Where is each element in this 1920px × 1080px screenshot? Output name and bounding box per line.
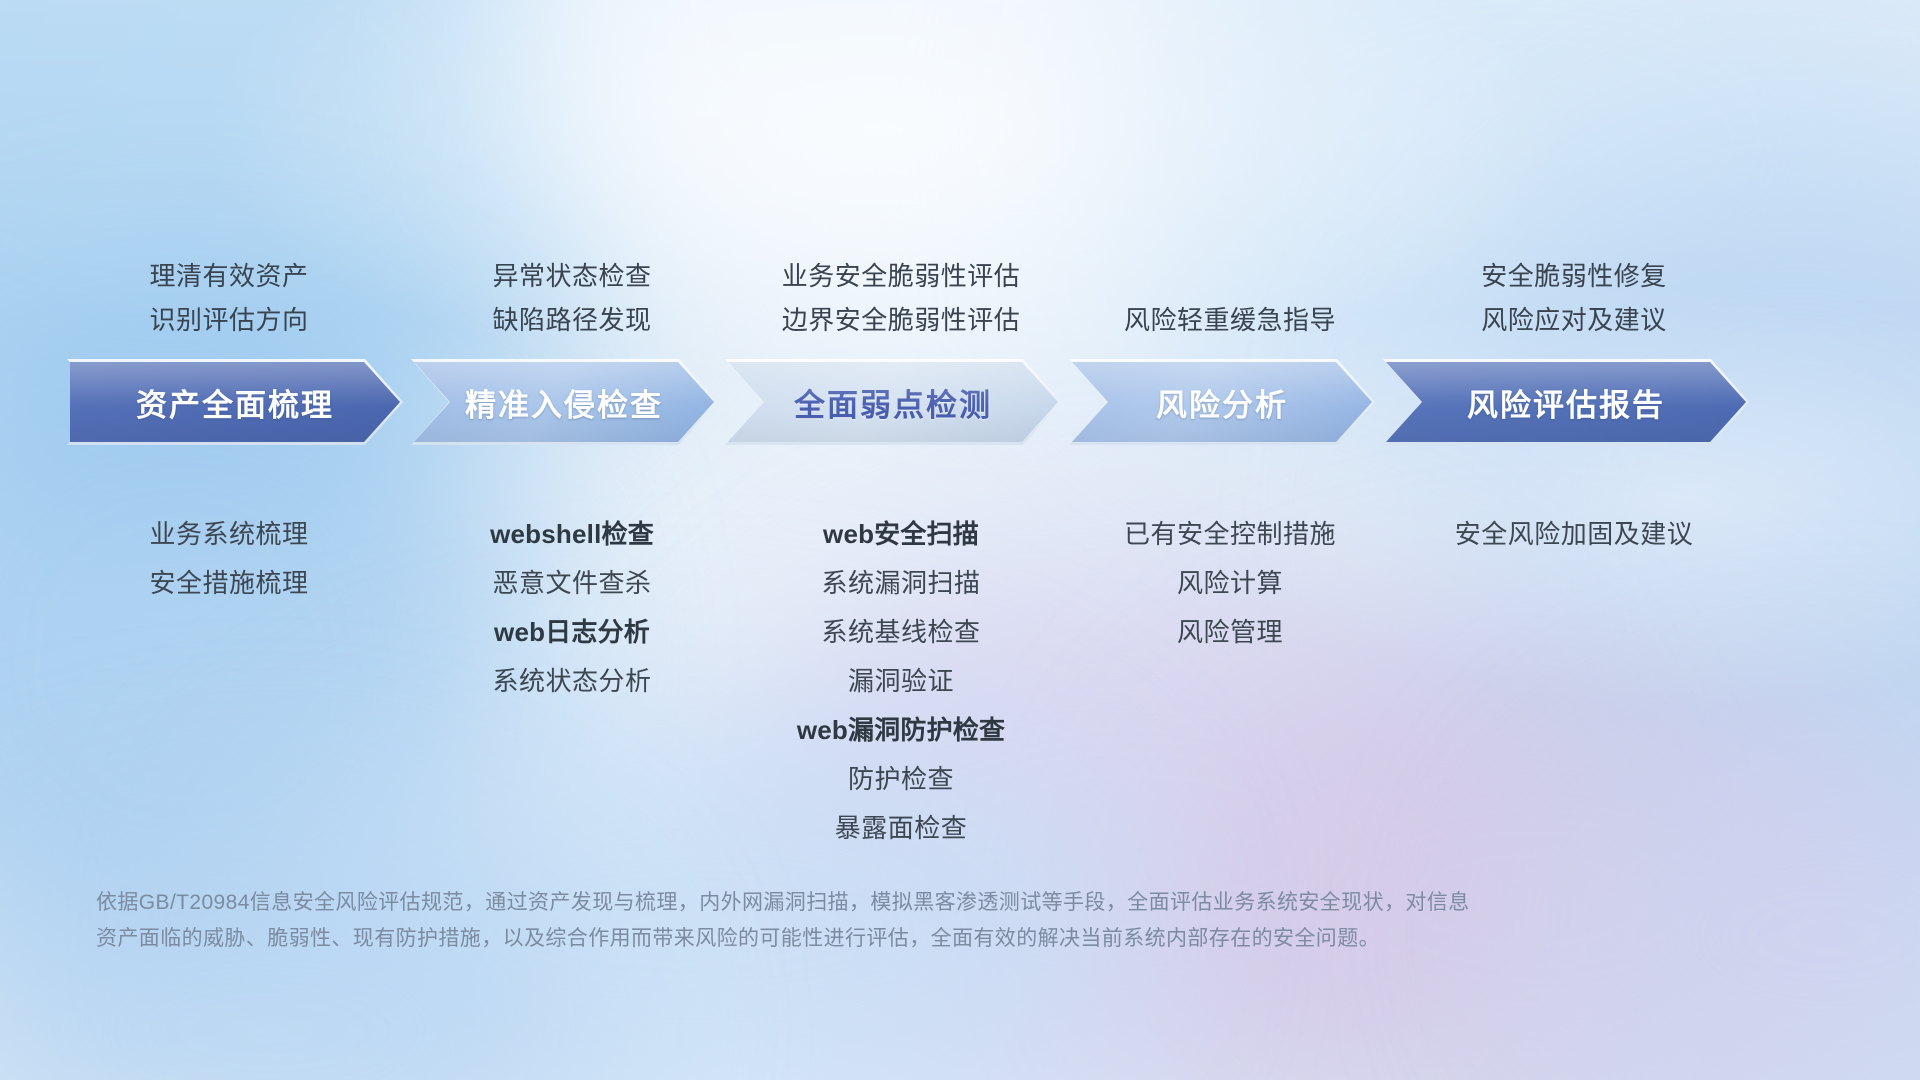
chevron-stage-3[interactable]: 全面弱点检测 [728, 362, 1058, 442]
activity-item: 系统基线检查 [721, 608, 1081, 657]
activity-item: 暴露面检查 [721, 804, 1081, 853]
stage-activities-1: 业务系统梳理安全措施梳理 [49, 510, 409, 608]
outcome-item: 边界安全脆弱性评估 [721, 298, 1081, 342]
footer-line-1: 依据GB/T20984信息安全风险评估规范，通过资产发现与梳理，内外网漏洞扫描，… [96, 885, 1656, 921]
activity-item: web日志分析 [392, 608, 752, 657]
slide-content: 理清有效资产识别评估方向业务系统梳理安全措施梳理异常状态检查缺陷路径发现webs… [0, 0, 1920, 1080]
activity-item: 业务系统梳理 [49, 510, 409, 559]
outcome-item: 理清有效资产 [49, 254, 409, 298]
stage-activities-2: webshell检查恶意文件查杀web日志分析系统状态分析 [392, 510, 752, 706]
stage-outcomes-5: 安全脆弱性修复风险应对及建议 [1394, 254, 1754, 342]
stage-outcomes-4: 风险轻重缓急指导 [1050, 298, 1410, 342]
process-chevron-band: 资产全面梳理精准入侵检查全面弱点检测风险分析风险评估报告 [70, 362, 1850, 442]
outcome-item: 识别评估方向 [49, 298, 409, 342]
activity-item: web漏洞防护检查 [721, 706, 1081, 755]
stage-outcomes-3: 业务安全脆弱性评估边界安全脆弱性评估 [721, 254, 1081, 342]
outcome-item: 缺陷路径发现 [392, 298, 752, 342]
footer-description: 依据GB/T20984信息安全风险评估规范，通过资产发现与梳理，内外网漏洞扫描，… [96, 885, 1656, 957]
footer-line-2: 资产面临的威胁、脆弱性、现有防护措施，以及综合作用而带来风险的可能性进行评估，全… [96, 921, 1656, 957]
chevron-label-1: 资产全面梳理 [136, 380, 334, 425]
outcome-item: 业务安全脆弱性评估 [721, 254, 1081, 298]
activity-item: 防护检查 [721, 755, 1081, 804]
stage-activities-4: 已有安全控制措施风险计算风险管理 [1050, 510, 1410, 657]
chevron-stage-1[interactable]: 资产全面梳理 [70, 362, 400, 442]
chevron-label-3: 全面弱点检测 [794, 380, 992, 425]
chevron-stage-2[interactable]: 精准入侵检查 [414, 362, 714, 442]
chevron-label-2: 精准入侵检查 [465, 380, 663, 425]
chevron-label-5: 风险评估报告 [1467, 380, 1665, 425]
activity-item: 风险计算 [1050, 559, 1410, 608]
activity-item: 漏洞验证 [721, 657, 1081, 706]
activity-item: webshell检查 [392, 510, 752, 559]
activity-item: 安全措施梳理 [49, 559, 409, 608]
activity-item: 系统状态分析 [392, 657, 752, 706]
activity-item: 风险管理 [1050, 608, 1410, 657]
activity-item: 已有安全控制措施 [1050, 510, 1410, 559]
slide-canvas: 理清有效资产识别评估方向业务系统梳理安全措施梳理异常状态检查缺陷路径发现webs… [0, 0, 1920, 1080]
outcome-item: 安全脆弱性修复 [1394, 254, 1754, 298]
stage-outcomes-1: 理清有效资产识别评估方向 [49, 254, 409, 342]
activity-item: 安全风险加固及建议 [1394, 510, 1754, 559]
activity-item: 恶意文件查杀 [392, 559, 752, 608]
chevron-stage-5[interactable]: 风险评估报告 [1386, 362, 1746, 442]
chevron-label-4: 风险分析 [1156, 380, 1288, 425]
stage-activities-5: 安全风险加固及建议 [1394, 510, 1754, 559]
activity-item: 系统漏洞扫描 [721, 559, 1081, 608]
stage-outcomes-2: 异常状态检查缺陷路径发现 [392, 254, 752, 342]
activity-item: web安全扫描 [721, 510, 1081, 559]
stage-activities-3: web安全扫描系统漏洞扫描系统基线检查漏洞验证web漏洞防护检查防护检查暴露面检… [721, 510, 1081, 853]
outcome-item: 风险轻重缓急指导 [1050, 298, 1410, 342]
outcome-item: 风险应对及建议 [1394, 298, 1754, 342]
outcome-item: 异常状态检查 [392, 254, 752, 298]
chevron-stage-4[interactable]: 风险分析 [1072, 362, 1372, 442]
